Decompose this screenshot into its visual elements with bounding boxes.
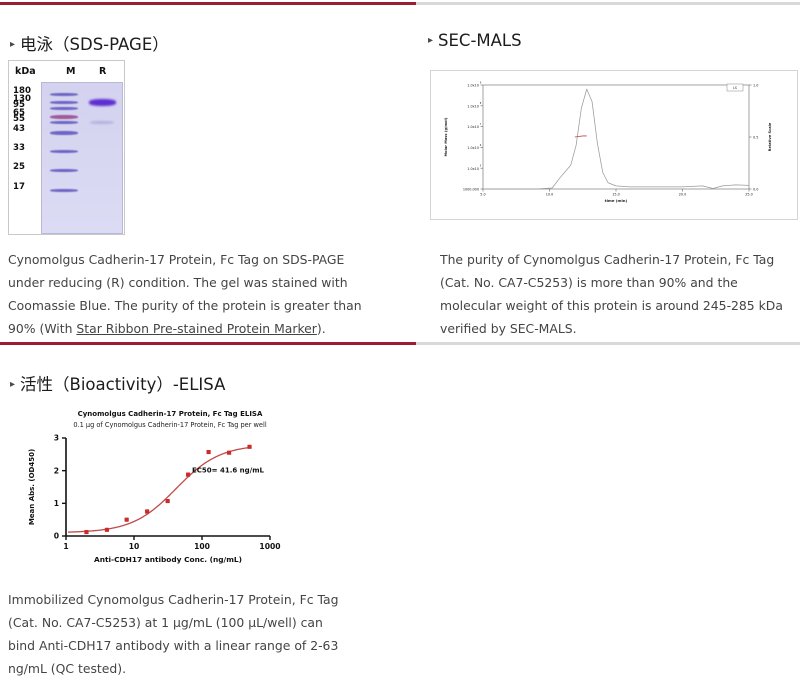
protein-marker-link[interactable]: Star Ribbon Pre-stained Protein Marker (76, 321, 317, 336)
sec-mals-xlabel: time (min) (605, 198, 628, 203)
bullet-icon: ▸ (10, 39, 15, 50)
elisa-data-point-7 (206, 450, 210, 454)
elisa-fit-curve (68, 447, 251, 532)
svg-text:LS: LS (733, 86, 737, 90)
sec-mals-ls-trace (483, 89, 749, 189)
elisa-data-point-9 (247, 445, 251, 449)
elisa-data-point-1 (84, 530, 88, 534)
section-heading-bioactivity: ▸活性（Bioactivity）-ELISA (10, 371, 225, 395)
sec-mals-xtick-label: 20.0 (679, 193, 687, 197)
elisa-ytick-label: 1 (54, 499, 59, 508)
svg-text:6: 6 (480, 144, 482, 147)
gel-ladder-label-43: 43 (13, 125, 25, 134)
gel-ladder-label-17: 17 (13, 183, 25, 192)
sec-mals-ytick-label: 1.0x106 (467, 144, 482, 150)
section-heading-sds-page-label: 电泳（SDS-PAGE） (20, 35, 169, 54)
elisa-ytick-label: 0 (54, 532, 59, 541)
elisa-ec50-annotation: EC50= 41.6 ng/mL (192, 466, 265, 474)
sec-mals-chart-svg: 1.0x1091.0x1081.0x1071.0x1061.0x1051000.… (431, 71, 797, 219)
gel-ladder-label-33: 33 (13, 144, 25, 153)
elisa-data-point-3 (125, 518, 129, 522)
sec-mals-legend: LS (727, 84, 743, 91)
sec-mals-ytick-label: 1.0x108 (467, 102, 482, 108)
sec-mals-ylabel: Molar Mass (g/mol) (444, 117, 448, 156)
elisa-chart-svg: Cynomolgus Cadherin-17 Protein, Fc Tag E… (22, 402, 284, 574)
elisa-xtick-label: 10 (129, 542, 140, 551)
sec-mals-xtick-label: 10.0 (546, 193, 554, 197)
gel-header-marker: M (66, 66, 75, 77)
divider-middle (0, 342, 800, 345)
svg-text:1.0x10: 1.0x10 (467, 84, 479, 88)
svg-text:7: 7 (480, 123, 482, 126)
elisa-data-point-2 (105, 528, 109, 532)
gel-marker-band-130 (50, 101, 78, 104)
sec-mals-xtick-label: 15.0 (612, 193, 620, 197)
svg-text:1.0x10: 1.0x10 (467, 167, 479, 171)
gel-sample-band-faint (90, 121, 114, 124)
svg-text:1.0x10: 1.0x10 (467, 125, 479, 129)
gel-header-kda: kDa (15, 66, 36, 77)
sds-page-gel-figure: kDa M R 18013095655543332517 (8, 60, 125, 235)
sec-mals-ytick-label: 1.0x105 (467, 165, 482, 171)
elisa-xtick-label: 100 (194, 542, 210, 551)
elisa-subtitle: 0.1 µg of Cynomolgus Cadherin-17 Protein… (73, 421, 266, 429)
bullet-icon: ▸ (10, 379, 15, 390)
elisa-ytick-label: 2 (54, 466, 59, 475)
sec-mals-y2label: Relative Scale (768, 122, 772, 151)
sec-mals-y2tick-label: 1.0 (753, 84, 758, 88)
gel-ladder-label-55: 55 (13, 115, 25, 124)
divider-top (0, 2, 800, 5)
elisa-data-point-6 (186, 472, 190, 476)
sec-mals-chart-figure: 1.0x1091.0x1081.0x1071.0x1061.0x1051000.… (430, 70, 798, 220)
elisa-ylabel: Mean Abs. (OD450) (28, 449, 36, 525)
sec-mals-xtick-label: 25.0 (745, 193, 753, 197)
gel-marker-band-55 (50, 121, 78, 124)
sec-mals-plot-frame (483, 85, 749, 189)
elisa-xlabel: Anti-CDH17 antibody Conc. (ng/mL) (94, 555, 242, 564)
gel-marker-band-43 (50, 131, 78, 135)
gel-lane-headers: kDa M R (9, 64, 124, 80)
elisa-xtick-label: 1 (63, 542, 68, 551)
svg-text:9: 9 (480, 81, 482, 84)
elisa-xtick-label: 1000 (259, 542, 280, 551)
section-heading-sec-mals-label: SEC-MALS (438, 31, 522, 50)
elisa-title: Cynomolgus Cadherin-17 Protein, Fc Tag E… (78, 410, 263, 418)
elisa-data-point-4 (145, 509, 149, 513)
svg-text:1.0x10: 1.0x10 (467, 104, 479, 108)
elisa-data-point-8 (227, 451, 231, 455)
svg-text:Molar Mass (g/mol): Molar Mass (g/mol) (444, 117, 448, 156)
gel-marker-band-25 (50, 169, 78, 172)
gel-marker-band-17 (50, 189, 78, 192)
sec-mals-ytick-label: 1.0x109 (467, 81, 482, 87)
caption-sec-mals: The purity of Cynomolgus Cadherin-17 Pro… (440, 248, 792, 340)
gel-marker-band-33 (50, 150, 78, 153)
gel-sample-band-main (89, 99, 116, 106)
elisa-chart-figure: Cynomolgus Cadherin-17 Protein, Fc Tag E… (22, 402, 284, 574)
elisa-data-point-5 (166, 499, 170, 503)
bullet-icon: ▸ (428, 35, 433, 46)
sec-mals-ytick-label: 1000.000 (463, 188, 479, 192)
sec-mals-y2tick-label: 0.0 (753, 188, 758, 192)
svg-text:Relative Scale: Relative Scale (768, 122, 772, 151)
svg-text:8: 8 (480, 102, 482, 105)
caption-bioactivity: Immobilized Cynomolgus Cadherin-17 Prote… (8, 588, 353, 680)
sec-mals-molar-mass-trace (575, 136, 587, 137)
elisa-ytick-label: 3 (54, 434, 59, 443)
section-heading-sec-mals: ▸SEC-MALS (428, 31, 522, 50)
gel-marker-band-180 (50, 93, 78, 96)
caption-sds-text-2: ). (317, 321, 326, 336)
gel-header-reduced: R (99, 66, 106, 77)
svg-text:1000.000: 1000.000 (463, 188, 479, 192)
sec-mals-y2tick-label: 0.5 (753, 136, 758, 140)
caption-sds-page: Cynomolgus Cadherin-17 Protein, Fc Tag o… (8, 248, 368, 340)
divider-accent (0, 342, 416, 345)
divider-accent (0, 2, 416, 5)
section-heading-sds-page: ▸电泳（SDS-PAGE） (10, 31, 169, 55)
gel-marker-band-95 (50, 107, 78, 110)
sec-mals-xtick-label: 5.0 (480, 193, 485, 197)
gel-body (41, 82, 123, 234)
sec-mals-ytick-label: 1.0x107 (467, 123, 482, 129)
svg-text:1.0x10: 1.0x10 (467, 146, 479, 150)
svg-text:5: 5 (480, 165, 482, 168)
gel-ladder-label-25: 25 (13, 163, 25, 172)
svg-text:Mean Abs. (OD450): Mean Abs. (OD450) (28, 449, 36, 525)
section-heading-bioactivity-label: 活性（Bioactivity）-ELISA (20, 375, 225, 394)
gel-marker-band-65 (50, 115, 78, 119)
